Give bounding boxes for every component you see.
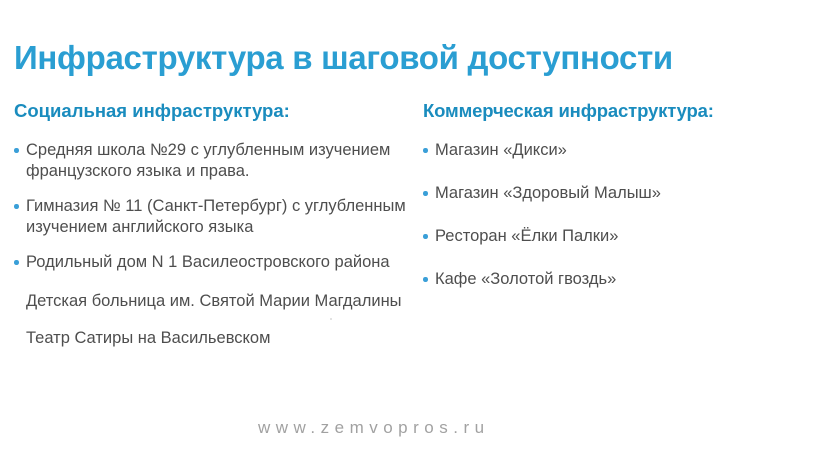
columns-container: Социальная инфраструктура: Средняя школа… (0, 100, 820, 460)
list-item: Ресторан «Ёлки Палки» (423, 226, 815, 247)
scan-speck (540, 238, 542, 240)
list-item: Театр Сатиры на Васильевском (14, 328, 414, 349)
list-item-label: Магазин «Здоровый Малыш» (435, 183, 815, 204)
list-item: Кафе «Золотой гвоздь» (423, 269, 815, 290)
list-item-label: Ресторан «Ёлки Палки» (435, 226, 815, 247)
list-item: Детская больница им. Святой Марии Магдал… (14, 291, 414, 312)
list-item: Средняя школа №29 с углубленным изучение… (14, 140, 414, 182)
list-item-label: Детская больница им. Святой Марии Магдал… (26, 291, 414, 312)
commercial-infrastructure-list: Магазин «Дикси» Магазин «Здоровый Малыш»… (423, 140, 815, 290)
bullet-icon (14, 260, 19, 265)
column-heading-social: Социальная инфраструктура: (14, 100, 414, 122)
list-item: Родильный дом N 1 Василеостровского райо… (14, 252, 414, 273)
bullet-icon (423, 148, 428, 153)
bullet-icon (14, 148, 19, 153)
scan-speck (330, 318, 332, 320)
list-item-label: Театр Сатиры на Васильевском (26, 328, 414, 349)
list-item: Магазин «Здоровый Малыш» (423, 183, 815, 204)
list-item-label: Средняя школа №29 с углубленным изучение… (26, 140, 414, 182)
bullet-icon (423, 277, 428, 282)
column-social-infrastructure: Социальная инфраструктура: Средняя школа… (14, 100, 414, 365)
bullet-icon (14, 204, 19, 209)
list-item: Магазин «Дикси» (423, 140, 815, 161)
list-item-label: Гимназия № 11 (Санкт-Петербург) с углубл… (26, 196, 414, 238)
list-item-label: Родильный дом N 1 Василеостровского райо… (26, 252, 414, 273)
list-item: Гимназия № 11 (Санкт-Петербург) с углубл… (14, 196, 414, 238)
slide-root: Инфраструктура в шаговой доступности Соц… (0, 0, 820, 460)
page-title: Инфраструктура в шаговой доступности (14, 39, 804, 77)
column-heading-commercial: Коммерческая инфраструктура: (423, 100, 815, 122)
bullet-icon (423, 234, 428, 239)
column-commercial-infrastructure: Коммерческая инфраструктура: Магазин «Ди… (423, 100, 815, 312)
list-item-label: Магазин «Дикси» (435, 140, 815, 161)
list-item-label: Кафе «Золотой гвоздь» (435, 269, 815, 290)
bullet-icon (423, 191, 428, 196)
social-infrastructure-list: Средняя школа №29 с углубленным изучение… (14, 140, 414, 349)
